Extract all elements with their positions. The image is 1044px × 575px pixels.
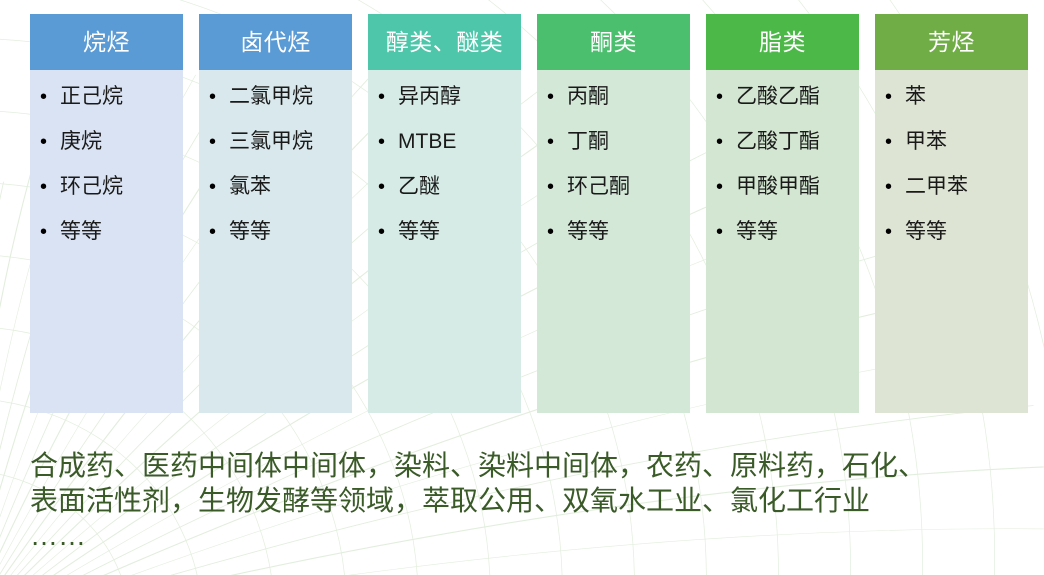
list-item: • 二甲苯 — [875, 176, 1028, 221]
category-card-body: • 乙酸乙酯 • 乙酸丁酯 • 甲酸甲酯 • 等等 — [706, 70, 859, 413]
category-card-header: 酮类 — [537, 14, 690, 70]
list-item: • 三氯甲烷 — [199, 131, 352, 176]
list-item-label: 等等 — [567, 221, 690, 242]
list-item-label: 等等 — [60, 221, 183, 242]
bullet-icon: • — [40, 132, 60, 152]
footer-line: 表面活性剂，生物发酵等领域，萃取公用、双氧水工业、氯化工行业 — [30, 483, 1025, 518]
list-item: • 庚烷 — [30, 131, 183, 176]
bullet-icon: • — [40, 177, 60, 197]
list-item: • 丙酮 — [537, 86, 690, 131]
list-item-label: 乙醚 — [398, 176, 521, 197]
list-item: • 甲酸甲酯 — [706, 176, 859, 221]
list-item: • 二氯甲烷 — [199, 86, 352, 131]
list-item: • 等等 — [875, 221, 1028, 266]
item-list: • 二氯甲烷 • 三氯甲烷 • 氯苯 • 等等 — [199, 86, 352, 266]
category-title: 卤代烃 — [240, 31, 311, 54]
category-card-ketones: 酮类 • 丙酮 • 丁酮 • 环己酮 — [537, 14, 690, 413]
category-card-body: • 苯 • 甲苯 • 二甲苯 • 等等 — [875, 70, 1028, 413]
list-item-label: 苯 — [905, 86, 1028, 107]
bullet-icon: • — [716, 177, 736, 197]
list-item-label: 甲苯 — [905, 131, 1028, 152]
list-item-label: 环己烷 — [60, 176, 183, 197]
category-title: 醇类、醚类 — [386, 31, 504, 54]
bullet-icon: • — [547, 132, 567, 152]
category-title: 烷烃 — [83, 31, 130, 54]
list-item: • 环己烷 — [30, 176, 183, 221]
slide-canvas: 烷烃 • 正己烷 • 庚烷 • 环己烷 — [0, 0, 1044, 575]
bullet-icon: • — [209, 222, 229, 242]
category-card-body: • 异丙醇 • MTBE • 乙醚 • 等等 — [368, 70, 521, 413]
item-list: • 丙酮 • 丁酮 • 环己酮 • 等等 — [537, 86, 690, 266]
list-item-label: 异丙醇 — [398, 86, 521, 107]
list-item-label: MTBE — [398, 131, 521, 152]
list-item-label: 等等 — [229, 221, 352, 242]
list-item-label: 氯苯 — [229, 176, 352, 197]
list-item: • 甲苯 — [875, 131, 1028, 176]
list-item-label: 等等 — [398, 221, 521, 242]
bullet-icon: • — [378, 222, 398, 242]
list-item: • 苯 — [875, 86, 1028, 131]
list-item-label: 乙酸乙酯 — [736, 86, 859, 107]
list-item-label: 丁酮 — [567, 131, 690, 152]
bullet-icon: • — [40, 87, 60, 107]
bullet-icon: • — [716, 222, 736, 242]
category-title: 脂类 — [759, 31, 806, 54]
category-card-body: • 丙酮 • 丁酮 • 环己酮 • 等等 — [537, 70, 690, 413]
list-item: • 等等 — [706, 221, 859, 266]
bullet-icon: • — [547, 177, 567, 197]
solvent-category-card-strip: 烷烃 • 正己烷 • 庚烷 • 环己烷 — [30, 14, 1028, 413]
list-item: • 丁酮 — [537, 131, 690, 176]
list-item-label: 正己烷 — [60, 86, 183, 107]
item-list: • 乙酸乙酯 • 乙酸丁酯 • 甲酸甲酯 • 等等 — [706, 86, 859, 266]
list-item-label: 甲酸甲酯 — [736, 176, 859, 197]
list-item: • 环己酮 — [537, 176, 690, 221]
bullet-icon: • — [378, 132, 398, 152]
list-item-label: 庚烷 — [60, 131, 183, 152]
category-card-alcohols-ethers: 醇类、醚类 • 异丙醇 • MTBE • 乙醚 — [368, 14, 521, 413]
list-item-label: 丙酮 — [567, 86, 690, 107]
list-item: • 等等 — [199, 221, 352, 266]
list-item: • 氯苯 — [199, 176, 352, 221]
list-item: • 异丙醇 — [368, 86, 521, 131]
category-card-header: 醇类、醚类 — [368, 14, 521, 70]
bullet-icon: • — [885, 222, 905, 242]
category-title: 酮类 — [590, 31, 637, 54]
category-card-body: • 正己烷 • 庚烷 • 环己烷 • 等等 — [30, 70, 183, 413]
bullet-icon: • — [209, 87, 229, 107]
list-item-label: 二氯甲烷 — [229, 86, 352, 107]
list-item: • 等等 — [368, 221, 521, 266]
list-item-label: 环己酮 — [567, 176, 690, 197]
list-item: • 等等 — [30, 221, 183, 266]
bullet-icon: • — [209, 132, 229, 152]
list-item-label: 等等 — [736, 221, 859, 242]
footer-line: …… — [30, 518, 1025, 553]
category-card-halohydrocarbons: 卤代烃 • 二氯甲烷 • 三氯甲烷 • 氯苯 — [199, 14, 352, 413]
category-card-aromatics: 芳烃 • 苯 • 甲苯 • 二甲苯 — [875, 14, 1028, 413]
list-item: • 正己烷 — [30, 86, 183, 131]
list-item-label: 三氯甲烷 — [229, 131, 352, 152]
list-item: • 乙醚 — [368, 176, 521, 221]
bullet-icon: • — [885, 177, 905, 197]
list-item-label: 二甲苯 — [905, 176, 1028, 197]
footer-line: 合成药、医药中间体中间体，染料、染料中间体，农药、原料药，石化、 — [30, 448, 1025, 483]
category-card-header: 芳烃 — [875, 14, 1028, 70]
category-card-header: 卤代烃 — [199, 14, 352, 70]
application-fields-paragraph: 合成药、医药中间体中间体，染料、染料中间体，农药、原料药，石化、 表面活性剂，生… — [30, 448, 1025, 553]
list-item-label: 等等 — [905, 221, 1028, 242]
list-item: • MTBE — [368, 131, 521, 176]
category-card-esters: 脂类 • 乙酸乙酯 • 乙酸丁酯 • 甲酸甲酯 — [706, 14, 859, 413]
bullet-icon: • — [209, 177, 229, 197]
list-item: • 乙酸丁酯 — [706, 131, 859, 176]
category-card-header: 烷烃 — [30, 14, 183, 70]
bullet-icon: • — [378, 87, 398, 107]
bullet-icon: • — [378, 177, 398, 197]
item-list: • 苯 • 甲苯 • 二甲苯 • 等等 — [875, 86, 1028, 266]
item-list: • 正己烷 • 庚烷 • 环己烷 • 等等 — [30, 86, 183, 266]
bullet-icon: • — [716, 132, 736, 152]
category-card-body: • 二氯甲烷 • 三氯甲烷 • 氯苯 • 等等 — [199, 70, 352, 413]
bullet-icon: • — [40, 222, 60, 242]
bullet-icon: • — [547, 222, 567, 242]
list-item-label: 乙酸丁酯 — [736, 131, 859, 152]
category-title: 芳烃 — [928, 31, 975, 54]
bullet-icon: • — [885, 87, 905, 107]
category-card-header: 脂类 — [706, 14, 859, 70]
list-item: • 等等 — [537, 221, 690, 266]
bullet-icon: • — [885, 132, 905, 152]
bullet-icon: • — [716, 87, 736, 107]
list-item: • 乙酸乙酯 — [706, 86, 859, 131]
item-list: • 异丙醇 • MTBE • 乙醚 • 等等 — [368, 86, 521, 266]
category-card-alkanes: 烷烃 • 正己烷 • 庚烷 • 环己烷 — [30, 14, 183, 413]
bullet-icon: • — [547, 87, 567, 107]
